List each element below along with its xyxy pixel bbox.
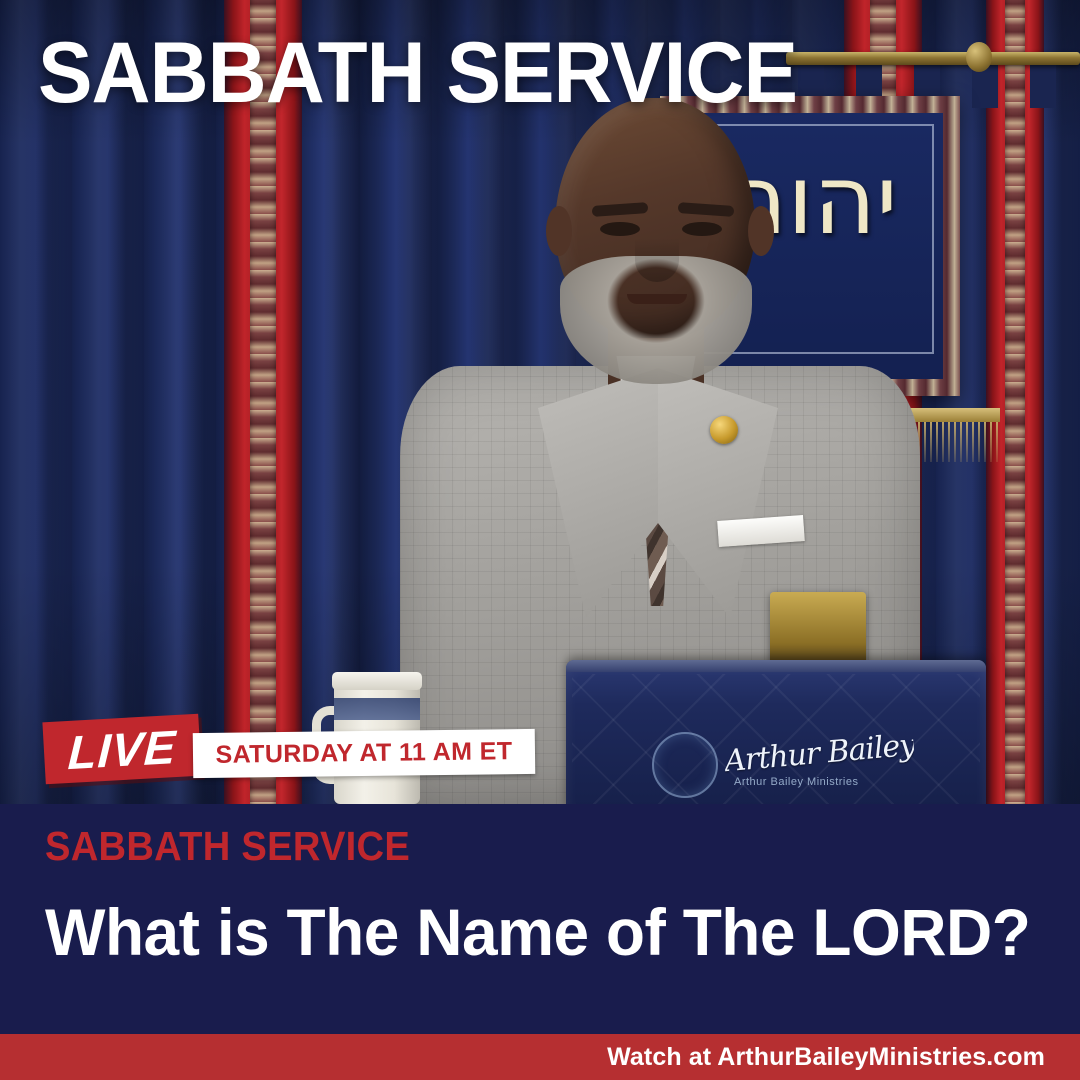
watch-footer-bar: Watch at ArthurBaileyMinistries.com [0,1034,1080,1080]
schedule-banner: SATURDAY AT 11 AM ET [193,729,536,778]
sabbath-service-poster: יהוה [0,0,1080,1080]
red-pillar-far-right [986,0,1044,804]
podium-gold-top [770,592,866,664]
watch-url-label: Watch at ArthurBaileyMinistries.com [607,1043,1080,1072]
curtain-rod [786,52,1080,65]
nose [635,238,679,282]
live-badge: LIVE [42,714,201,785]
service-photo: יהוה [0,0,1080,804]
ear-right [748,206,774,256]
schedule-label: SATURDAY AT 11 AM ET [215,737,512,770]
eye-left [600,222,640,236]
podium: Arthur Bailey Arthur Bailey Ministries [566,660,986,804]
podium-ministry-label: Arthur Bailey Ministries [734,776,858,788]
page-title: SABBATH SERVICE [38,30,797,116]
ear-left [546,206,572,256]
lower-text-block: SABBATH SERVICE What is The Name of The … [0,804,1080,1034]
sermon-headline: What is The Name of The LORD? [45,899,1022,965]
braid-trim-icon [1005,0,1025,804]
series-kicker: SABBATH SERVICE [45,826,410,867]
gold-lapel-pin-icon [710,416,738,444]
mouth [627,294,687,304]
ministry-logo-icon [652,732,718,798]
eye-right [682,222,722,236]
live-badge-label: LIVE [67,722,178,775]
curtain-rod-finial-icon [966,42,992,72]
